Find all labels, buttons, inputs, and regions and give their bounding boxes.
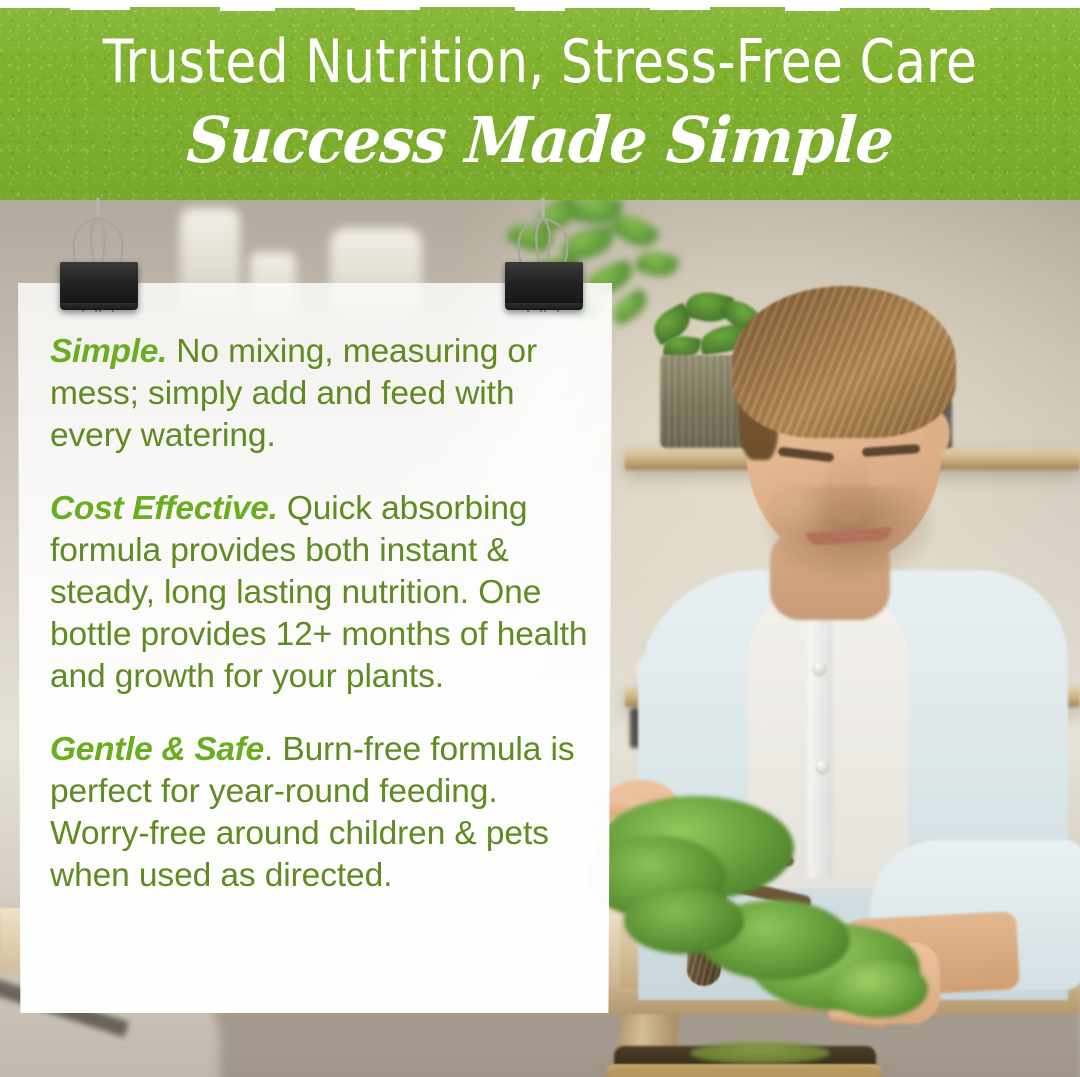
header-headline: Trusted Nutrition, Stress-Free Care: [38, 32, 1042, 92]
benefit-paragraph-gentle-safe: Gentle & Safe. Burn-free formula is perf…: [50, 729, 590, 897]
banner-torn-top-edge: [0, 5, 1080, 12]
hair: [732, 286, 956, 438]
paper-note-card: Simple. No mixing, measuring or mess; si…: [18, 283, 612, 1013]
binder-clip-left: [52, 196, 144, 316]
clip-body: [60, 262, 138, 310]
bonsai-moss: [690, 1042, 830, 1064]
bonsai-pot: [608, 1068, 880, 1077]
benefits-copy: Simple. No mixing, measuring or mess; si…: [50, 331, 590, 897]
header-script-tagline: Success Made Simple: [25, 109, 1055, 172]
header-banner: Trusted Nutrition, Stress-Free Care Succ…: [0, 5, 1080, 200]
bonsai-foliage: [828, 960, 928, 1018]
clip-body: [505, 262, 583, 310]
benefit-lead-label: Simple.: [50, 333, 167, 370]
shirt-button: [813, 662, 826, 675]
shirt-button: [816, 760, 829, 773]
promo-image: Trusted Nutrition, Stress-Free Care Succ…: [0, 0, 1080, 1077]
benefit-lead-label: Gentle & Safe: [50, 731, 264, 768]
benefit-lead-label: Cost Effective.: [50, 490, 278, 527]
shirt-placket: [808, 598, 832, 878]
binder-clip-right: [497, 196, 589, 316]
benefit-paragraph-cost-effective: Cost Effective. Quick absorbing formula …: [50, 488, 590, 698]
benefit-paragraph-simple: Simple. No mixing, measuring or mess; si…: [50, 331, 590, 457]
nose: [826, 452, 870, 526]
bonsai-foliage: [624, 888, 744, 954]
